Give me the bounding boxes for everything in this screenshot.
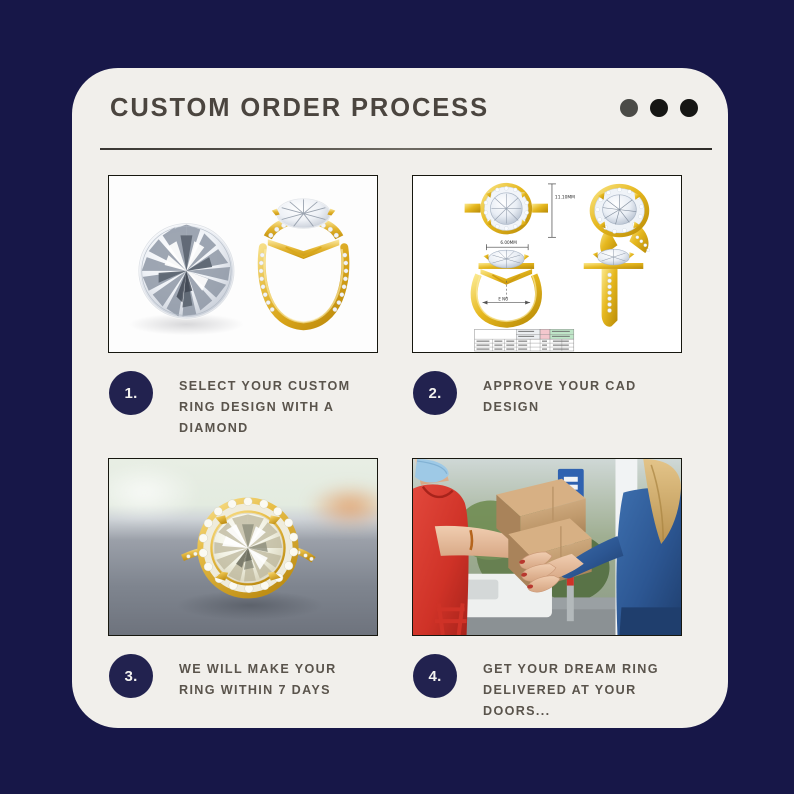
step-card-4: 4. GET YOUR DREAM RING DELIVERED AT YOUR… [412,458,682,728]
step-4-badge: 4. [413,654,457,698]
steps-grid: 1. SELECT YOUR CUSTOM RING DESIGN WITH A… [108,175,696,728]
step-card-2: 11.10MM [412,175,682,458]
cad-design-sheet: 11.10MM [413,176,681,352]
step-4-caption: 4. GET YOUR DREAM RING DELIVERED AT YOUR… [412,653,682,728]
window-dot-2-icon[interactable] [650,99,668,117]
step-2-text: APPROVE YOUR CAD DESIGN [483,376,678,418]
cad-label-ring-size: E NO [498,297,508,302]
page-title: CUSTOM ORDER PROCESS [110,94,489,123]
step-card-3: 3. WE WILL MAKE YOUR RING WITHIN 7 DAYS [108,458,378,728]
custom-order-process-card: CUSTOM ORDER PROCESS [72,68,728,728]
step-4-image [412,458,682,636]
gold-halo-ring-profile [259,199,348,327]
step-1-badge: 1. [109,371,153,415]
cad-view-perspective [590,184,650,255]
diamond-top-view [139,223,234,318]
step-4-text: GET YOUR DREAM RING DELIVERED AT YOUR DO… [483,659,678,722]
diamond-and-ring-illustration [109,176,377,352]
step-3-image [108,458,378,636]
card-header: CUSTOM ORDER PROCESS [72,68,728,148]
step-1-text: SELECT YOUR CUSTOM RING DESIGN WITH A DI… [179,376,374,439]
cad-label-6mm: 6.00MM [500,240,517,245]
cad-view-side [584,249,644,327]
window-dot-1-icon[interactable] [620,99,638,117]
screenshot-root: CUSTOM ORDER PROCESS [0,0,794,794]
step-1-caption: 1. SELECT YOUR CUSTOM RING DESIGN WITH A… [108,370,378,458]
delivery-illustration [413,459,681,635]
cad-view-top [465,183,548,234]
finished-ring-photo [109,459,377,635]
cad-spec-table [475,329,574,351]
step-2-badge: 2. [413,371,457,415]
window-dot-3-icon[interactable] [680,99,698,117]
diamond-and-ring-photo [109,176,377,352]
window-dots [620,99,698,117]
cad-ring-views-illustration: 11.10MM [413,176,681,352]
step-1-image [108,175,378,353]
step-3-caption: 3. WE WILL MAKE YOUR RING WITHIN 7 DAYS [108,653,378,728]
step-2-caption: 2. APPROVE YOUR CAD DESIGN [412,370,682,458]
delivery-handover-photo [413,459,681,635]
header-divider [100,148,712,150]
finished-ring-illustration [109,459,377,635]
cad-label-11mm: 11.10MM [555,195,575,201]
cad-view-profile: E NO [474,250,538,324]
cad-dimension-height [548,184,556,237]
step-3-text: WE WILL MAKE YOUR RING WITHIN 7 DAYS [179,659,374,701]
step-3-badge: 3. [109,654,153,698]
step-2-image: 11.10MM [412,175,682,353]
step-card-1: 1. SELECT YOUR CUSTOM RING DESIGN WITH A… [108,175,378,458]
